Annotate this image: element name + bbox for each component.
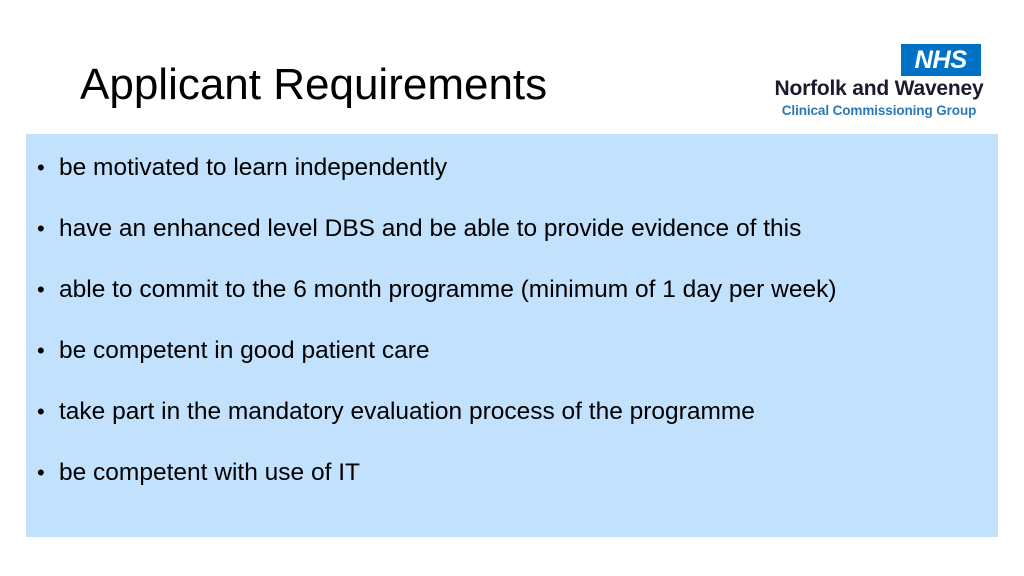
list-item: • be competent in good patient care	[37, 334, 429, 368]
content-panel: • be motivated to learn independently • …	[26, 134, 998, 537]
list-item: • be motivated to learn independently	[37, 151, 447, 185]
list-item: • be competent with use of IT	[37, 456, 360, 490]
bullet-icon: •	[37, 397, 59, 427]
page-title: Applicant Requirements	[80, 57, 720, 117]
bullet-icon: •	[37, 275, 59, 305]
nhs-organisation-subtitle: Clinical Commissioning Group	[770, 103, 988, 118]
list-item: • able to commit to the 6 month programm…	[37, 273, 837, 307]
nhs-logo: NHS Norfolk and Waveney Clinical Commiss…	[770, 44, 988, 122]
bullet-icon: •	[37, 214, 59, 244]
list-item-label: take part in the mandatory evaluation pr…	[59, 396, 755, 428]
list-item-label: have an enhanced level DBS and be able t…	[59, 213, 801, 245]
nhs-badge-icon: NHS	[901, 44, 981, 76]
nhs-trust-name: Norfolk and Waveney	[770, 77, 988, 101]
bullet-icon: •	[37, 153, 59, 183]
bullet-icon: •	[37, 336, 59, 366]
nhs-wordmark: NHS	[915, 46, 967, 75]
list-item: • take part in the mandatory evaluation …	[37, 395, 755, 429]
list-item-label: be competent with use of IT	[59, 457, 360, 489]
list-item: • have an enhanced level DBS and be able…	[37, 212, 801, 246]
slide: Applicant Requirements NHS Norfolk and W…	[0, 0, 1024, 576]
bullet-icon: •	[37, 458, 59, 488]
list-item-label: be competent in good patient care	[59, 335, 429, 367]
list-item-label: be motivated to learn independently	[59, 152, 447, 184]
list-item-label: able to commit to the 6 month programme …	[59, 274, 837, 306]
